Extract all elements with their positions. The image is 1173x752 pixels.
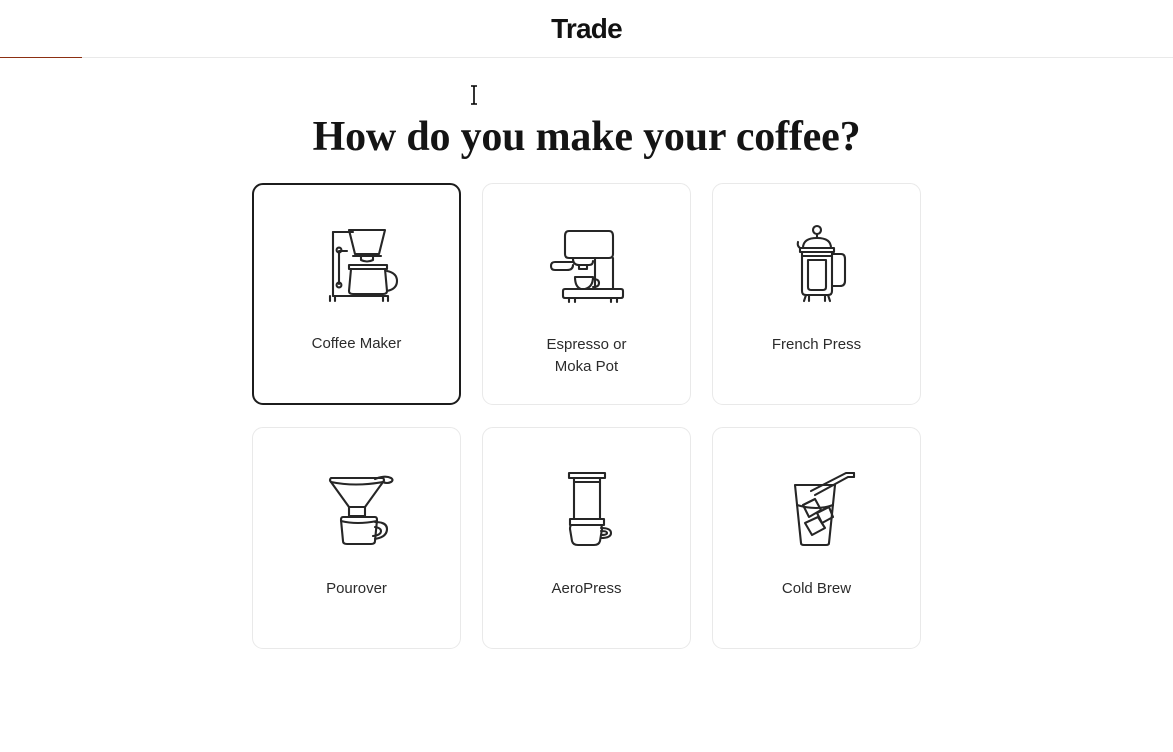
main-content: How do you make your coffee?: [0, 58, 1173, 752]
option-label: Cold Brew: [770, 578, 863, 600]
option-card-coffee-maker[interactable]: Coffee Maker: [252, 183, 461, 405]
option-card-pourover[interactable]: Pourover: [252, 427, 461, 649]
option-label: AeroPress: [539, 578, 633, 600]
brew-method-grid: Coffee Maker Espresso or: [252, 160, 922, 649]
coffee-maker-icon: [254, 221, 459, 307]
option-card-cold-brew[interactable]: Cold Brew: [712, 427, 921, 649]
option-label: Pourover: [314, 578, 399, 600]
app-header: Trade: [0, 0, 1173, 58]
option-card-aeropress[interactable]: AeroPress: [482, 427, 691, 649]
brand-logo: Trade: [551, 15, 622, 43]
espresso-machine-icon: [483, 221, 690, 307]
pourover-icon: [253, 465, 460, 551]
option-label: Espresso or Moka Pot: [534, 334, 638, 378]
option-card-espresso-moka-pot[interactable]: Espresso or Moka Pot: [482, 183, 691, 405]
option-label: French Press: [760, 334, 873, 356]
option-card-french-press[interactable]: French Press: [712, 183, 921, 405]
page-title: How do you make your coffee?: [0, 58, 1173, 160]
french-press-icon: [713, 221, 920, 307]
option-label: Coffee Maker: [300, 333, 414, 355]
aeropress-icon: [483, 465, 690, 551]
cold-brew-icon: [713, 465, 920, 551]
